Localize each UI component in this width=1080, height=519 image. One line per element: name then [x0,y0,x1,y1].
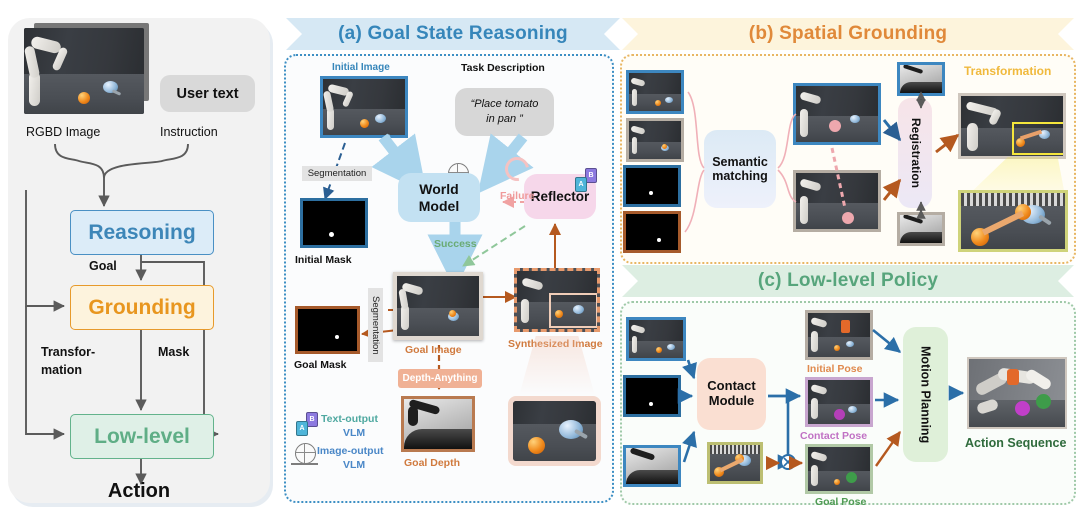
user-text-label: User text [176,86,238,102]
motion-planning-label: Motion Planning [918,346,932,443]
initial-pose-label: Initial Pose [807,363,862,375]
task-description-bubble: “Place tomato in pan ” [455,88,554,136]
goal-image-thumbnail [393,272,483,340]
legend-image-vlm-line2: VLM [343,459,365,471]
registration-module[interactable]: Registration [898,98,932,208]
initial-mask-label: Initial Mask [295,254,352,266]
synthesized-zoom-result [508,396,601,466]
legend-text-vlm-line1: Text-output [321,413,378,425]
task-text-line2: in pan ” [486,112,523,127]
registration-label: Registration [908,118,922,188]
panel-a-title: (a) Goal State Reasoning [338,23,568,45]
panel-c-transformation-thumb [707,442,763,484]
rgbd-image-label: RGBD Image [26,125,100,139]
task-description-label: Task Description [461,62,545,74]
initial-image-thumbnail [320,76,408,138]
overview-panel: User text RGBD Image Instruction Reasoni… [8,18,270,503]
initial-pose-image [805,310,873,360]
contact-pose-image [805,377,873,427]
edge-label-mask: Mask [158,345,189,359]
segmentation-tag-goal: Segmentation [368,288,383,362]
goal-depth-image [401,396,475,452]
overview-box-lowlevel[interactable]: Low-level [70,414,214,459]
initial-image-label: Initial Image [332,62,390,73]
transformation-label: Transformation [964,64,1051,78]
action-sequence-image [967,357,1067,429]
motion-planning-module[interactable]: Motion Planning [903,327,948,462]
legend-text-vlm-line2: VLM [343,427,365,439]
panel-b-title-ribbon: (b) Spatial Grounding [622,18,1074,50]
goal-pose-label: Goal Pose [815,496,866,508]
panel-b-initial-rgb-image [626,70,684,114]
failure-label: Failure [500,190,534,202]
panel-b-goal-rgb-image [626,118,684,162]
overview-box-lowlevel-label: Low-level [94,425,190,449]
panel-b-goal-depth-image [897,212,945,246]
panel-c-title: (c) Low-level Policy [758,270,938,292]
contact-module-line2: Module [707,394,755,409]
legend-globe-icon [295,443,316,464]
panel-b-initial-mask-image [623,165,681,207]
goal-depth-label: Goal Depth [404,457,460,469]
goal-image-label: Goal Image [405,344,462,356]
panel-b-title: (b) Spatial Grounding [749,23,947,45]
world-model-module[interactable]: World Model [398,173,480,222]
success-label: Success [434,238,477,250]
contact-pose-label: Contact Pose [800,430,867,442]
instruction-label: Instruction [160,125,218,139]
rgbd-image-thumbnail [24,28,144,114]
panel-b-transformation-zoom [958,190,1068,252]
overview-output-action: Action [8,480,270,503]
world-model-line2: Model [419,198,459,214]
segmentation-tag-initial: Segmentation [302,166,372,181]
panel-b-transformation-image [958,93,1066,159]
semantic-matching-line2: matching [712,169,768,183]
panel-a-title-ribbon: (a) Goal State Reasoning [286,18,620,50]
goal-pose-image [805,444,873,494]
legend-globe-stand-icon [291,463,318,465]
depth-anything-tag: Depth-Anything [398,369,482,388]
contact-module[interactable]: Contact Module [697,358,766,430]
task-text-line1: “Place tomato [471,97,539,112]
overview-box-reasoning-label: Reasoning [88,221,195,245]
panel-b-matched-goal-image [793,170,881,232]
edge-label-transformation-2: mation [41,363,82,377]
action-sequence-label: Action Sequence [965,436,1066,450]
edge-label-goal: Goal [89,259,117,273]
panel-c-title-ribbon: (c) Low-level Policy [622,265,1074,297]
world-model-line1: World [419,181,459,197]
overview-box-grounding-label: Grounding [88,296,195,320]
panel-b-initial-depth-image [897,62,945,96]
synthesized-image-thumbnail [514,268,600,332]
panel-c-rgb-image [626,317,686,361]
goal-mask-image [295,306,360,354]
panel-b-matched-initial-image [793,83,881,145]
semantic-matching-line1: Semantic [712,155,768,169]
goal-mask-label: Goal Mask [294,359,347,371]
badge-a-icon: A [575,177,587,192]
legend-badge-a-icon: A [296,421,308,436]
contact-module-line1: Contact [707,379,755,394]
panel-b-goal-mask-image [623,211,681,253]
edge-label-transformation-1: Transfor- [41,345,95,359]
overview-box-reasoning[interactable]: Reasoning [70,210,214,255]
overview-box-grounding[interactable]: Grounding [70,285,214,330]
initial-mask-image [300,198,368,248]
legend-image-vlm-line1: Image-output [317,445,384,457]
user-text-box: User text [160,75,255,112]
panel-c-mask-image [623,375,681,417]
semantic-matching-module[interactable]: Semantic matching [704,130,776,208]
panel-c-depth-image [623,445,681,487]
